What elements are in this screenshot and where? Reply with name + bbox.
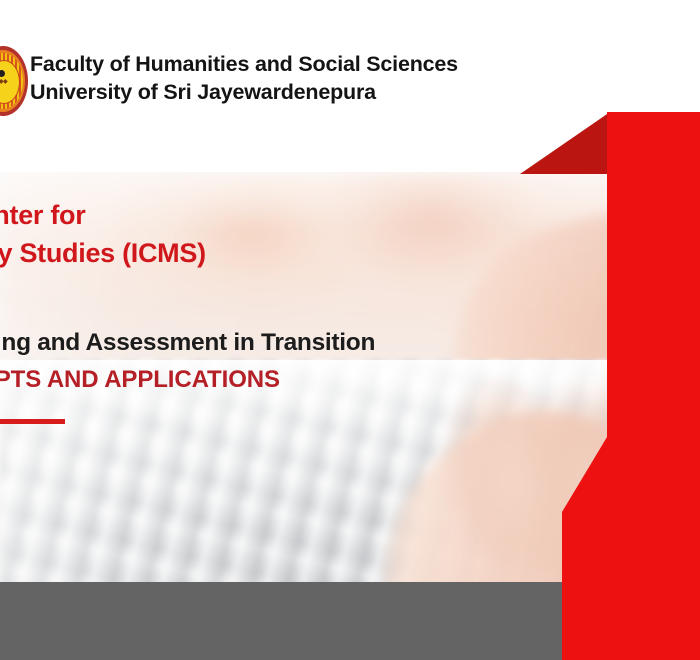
- subtitle-theme: g, Learning and Assessment in Transition: [0, 326, 640, 359]
- conference-banner: ◆◆ Faculty of Humanities and Social Scie…: [0, 0, 700, 660]
- icms-line-2: isciplinary Studies (ICMS): [0, 234, 620, 272]
- conference-subtitle: g, Learning and Assessment in Transition…: [0, 326, 640, 396]
- university-name: University of Sri Jayewardenepura: [30, 78, 630, 106]
- university-crest-icon: ◆◆: [0, 46, 28, 116]
- subtitle-subtheme: TS, CONCEPTS AND APPLICATIONS: [0, 364, 640, 396]
- footer-gray-band: [0, 582, 562, 660]
- icms-line-1: tional Center for: [0, 196, 620, 234]
- icms-center-name: tional Center for isciplinary Studies (I…: [0, 196, 620, 272]
- faculty-name: Faculty of Humanities and Social Science…: [30, 50, 630, 78]
- red-underline-rule: [0, 419, 65, 424]
- header-title-group: Faculty of Humanities and Social Science…: [30, 50, 630, 106]
- crest-script-glyph: ◆◆: [0, 79, 16, 85]
